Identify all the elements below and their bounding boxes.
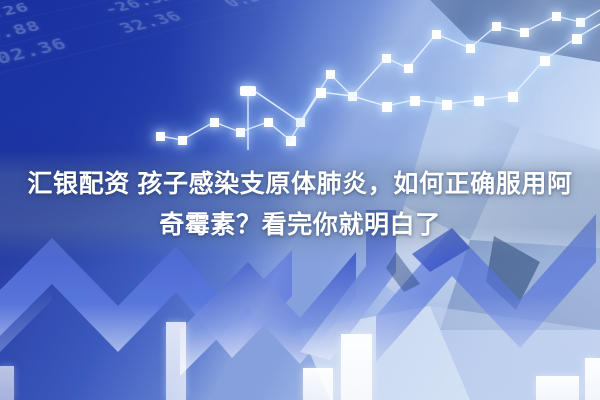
bar-item bbox=[166, 322, 186, 400]
bar-item bbox=[536, 376, 579, 400]
bar-item bbox=[341, 334, 372, 400]
page-title: 汇银配资 孩子感染支原体肺炎，如何正确服用阿 奇霉素？看完你就明白了 bbox=[0, 164, 600, 246]
bar-item bbox=[303, 368, 333, 400]
bar-item bbox=[0, 366, 14, 400]
headline-line-1: 汇银配资 孩子感染支原体肺炎，如何正确服用阿 bbox=[18, 164, 582, 205]
headline-line-2: 奇霉素？看完你就明白了 bbox=[18, 205, 582, 246]
bar-item bbox=[585, 358, 600, 400]
banner-image: 21.35 -50.02 45.02 4.36 10.02 -0.35 -11.… bbox=[0, 0, 600, 400]
